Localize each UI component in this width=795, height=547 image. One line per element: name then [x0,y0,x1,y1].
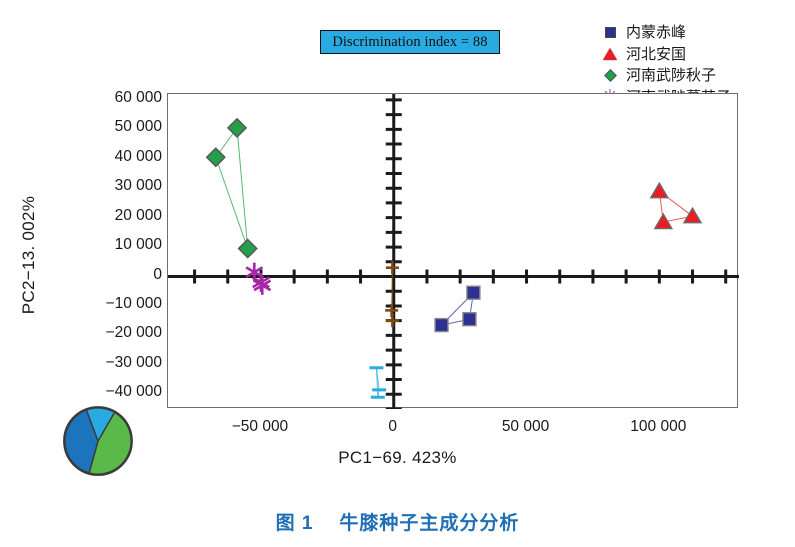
figure-number: 图 1 [276,513,314,534]
legend-item-neimeng-chifeng: 内蒙赤峰 [600,22,792,44]
data-point-triangle [651,183,668,198]
data-point-diamond [239,240,257,258]
y-axis-tick-label: −30 000 [67,354,162,372]
legend-item-henan-wuzhi-qiuzi: 河南武陟秋子 [600,65,792,87]
discrimination-index-badge: Discrimination index = 88 [320,30,500,54]
y-axis-tick-label: 30 000 [67,177,162,195]
y-axis-tick-label: −40 000 [67,383,162,401]
square-marker-icon [600,23,620,43]
legend-item-label: 河南武陟秋子 [626,68,716,83]
data-point-plus [386,314,399,327]
y-axis-tick-label: 10 000 [67,236,162,254]
y-axis-tick-label: −10 000 [67,295,162,313]
y-axis-tick-label: 0 [67,266,162,284]
data-point-square [467,286,480,299]
scatter-plot-area [167,93,738,408]
data-point-diamond [228,119,246,137]
x-axis-tick-label: 100 000 [598,418,718,436]
plot-svg [168,94,739,409]
data-point-triangle [684,208,701,223]
x-axis-tick-label: −50 000 [200,418,320,436]
legend-item-hebei-anguo: 河北安国 [600,44,792,66]
legend-item-label: 河北安国 [626,47,686,62]
x-axis-tick-label: 0 [333,418,453,436]
figure-caption: 图 1牛膝种子主成分分析 [0,508,795,535]
series-link-lines [216,128,248,249]
data-point-diamond [207,148,225,166]
data-point-square [463,313,476,326]
diamond-marker-icon [600,66,620,86]
y-axis-tick-label: 50 000 [67,118,162,136]
y-axis-title: PC2−13. 002% [19,130,39,380]
data-point-square [435,319,448,332]
y-axis-tick-label: −20 000 [67,324,162,342]
triangle-marker-icon [600,44,620,64]
y-axis-tick-label: 20 000 [67,207,162,225]
figure-title: 牛膝种子主成分分析 [339,513,519,534]
x-axis-tick-label: 50 000 [466,418,586,436]
y-axis-tick-label: 40 000 [67,148,162,166]
series-link-lines [376,368,379,397]
legend-item-label: 内蒙赤峰 [626,25,686,40]
pie-chart [62,405,134,477]
y-axis-tick-label: 60 000 [67,89,162,107]
figure-container: Discrimination index = 88 内蒙赤峰 河北安国 河南武陟… [0,0,795,547]
